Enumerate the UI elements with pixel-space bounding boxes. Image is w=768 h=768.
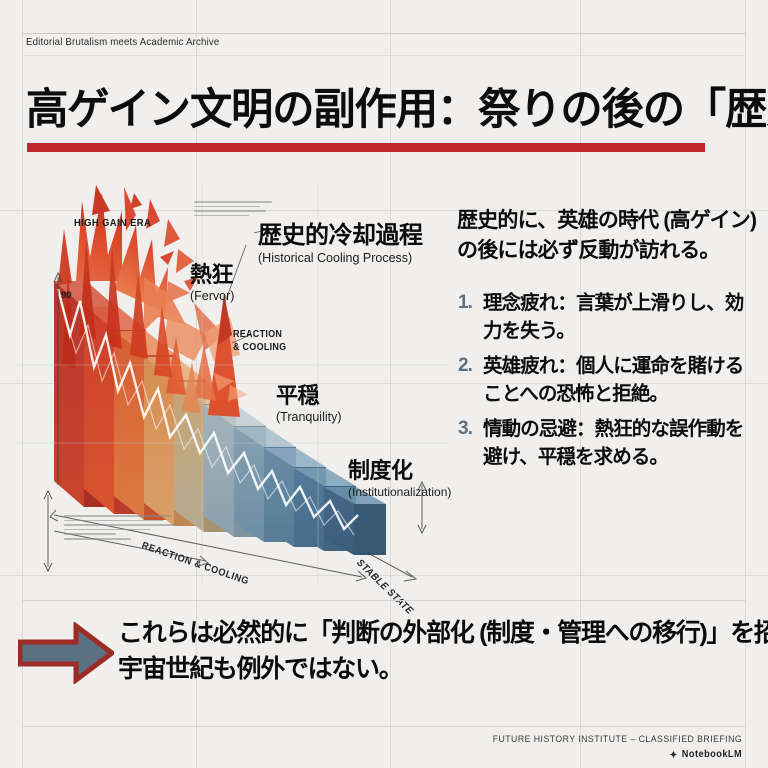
stage-label-institutionalization: 制度化 (Institutionalization) — [348, 453, 451, 499]
reaction-cooling-callout: REACTION & COOLING — [233, 329, 286, 354]
stage-label-tranquility: 平穏 (Tranquility) — [276, 378, 342, 424]
stage-fervor-en: (Fervor) — [190, 289, 234, 303]
chart-section-heading: 歴史的冷却過程 (Historical Cooling Process) — [258, 215, 423, 265]
list-item: 英雄疲れ：個人に運命を賭けることへの恐怖と拒絶。 — [483, 352, 757, 409]
kicker-bottom-rule — [22, 55, 746, 56]
conclusion-line-2: 宇宙世紀も例外ではない。 — [118, 652, 758, 688]
right-arrow-icon — [18, 622, 114, 684]
stage-fervor-jp: 熱狂 — [190, 257, 234, 289]
micro-annotation-bottom — [64, 515, 176, 543]
lede-paragraph: 歴史的に、英雄の時代 (高ゲイン) の後には必ず反動が訪れる。 — [457, 206, 757, 267]
reaction-cooling-line1: REACTION — [233, 329, 282, 340]
stage-label-fervor: 熱狂 (Fervor) — [190, 257, 234, 303]
section-heading-en: (Historical Cooling Process) — [258, 251, 423, 265]
stage-tranquility-en: (Tranquility) — [276, 410, 342, 424]
conclusion-top-rule — [22, 600, 746, 601]
list-item: 理念疲れ：言葉が上滑りし、効力を失う。 — [483, 289, 757, 346]
reaction-cooling-line2: & COOLING — [233, 342, 286, 353]
section-heading-jp: 歴史的冷却過程 — [258, 215, 423, 250]
brand-lockup: NotebookLM — [493, 749, 742, 760]
brand-name: NotebookLM — [682, 749, 742, 760]
y-axis-tick-90: 90 — [61, 290, 72, 301]
notebooklm-logo-icon — [668, 749, 678, 760]
slide-canvas: Editorial Brutalism meets Academic Archi… — [0, 0, 768, 768]
footer: FUTURE HISTORY INSTITUTE – CLASSIFIED BR… — [493, 734, 742, 760]
classification-label: FUTURE HISTORY INSTITUTE – CLASSIFIED BR… — [493, 734, 742, 745]
title-underline — [27, 143, 705, 152]
list-item: 情動の忌避：熱狂的な誤作動を避け、平穏を求める。 — [483, 415, 757, 472]
stage-tranquility-jp: 平穏 — [276, 378, 342, 410]
footer-rule — [22, 726, 746, 727]
right-column: 歴史的に、英雄の時代 (高ゲイン) の後には必ず反動が訪れる。 理念疲れ：言葉が… — [457, 206, 757, 478]
page-title: 高ゲイン文明の副作用：祭りの後の「歴史的二日酔い」 — [26, 88, 768, 134]
conclusion-text: これらは必然的に「判断の外部化 (制度・管理への移行)」を招く。 宇宙世紀も例外… — [118, 616, 758, 687]
stage-institutionalization-en: (Institutionalization) — [348, 485, 451, 499]
points-list: 理念疲れ：言葉が上滑りし、効力を失う。 英雄疲れ：個人に運命を賭けることへの恐怖… — [457, 289, 757, 472]
kicker-top-rule — [22, 33, 746, 34]
stage-institutionalization-jp: 制度化 — [348, 453, 451, 485]
conclusion-line-1: これらは必然的に「判断の外部化 (制度・管理への移行)」を招く。 — [118, 616, 758, 652]
high-gain-era-label: HIGH GAIN ERA — [74, 217, 151, 229]
kicker-text: Editorial Brutalism meets Academic Archi… — [26, 36, 219, 48]
